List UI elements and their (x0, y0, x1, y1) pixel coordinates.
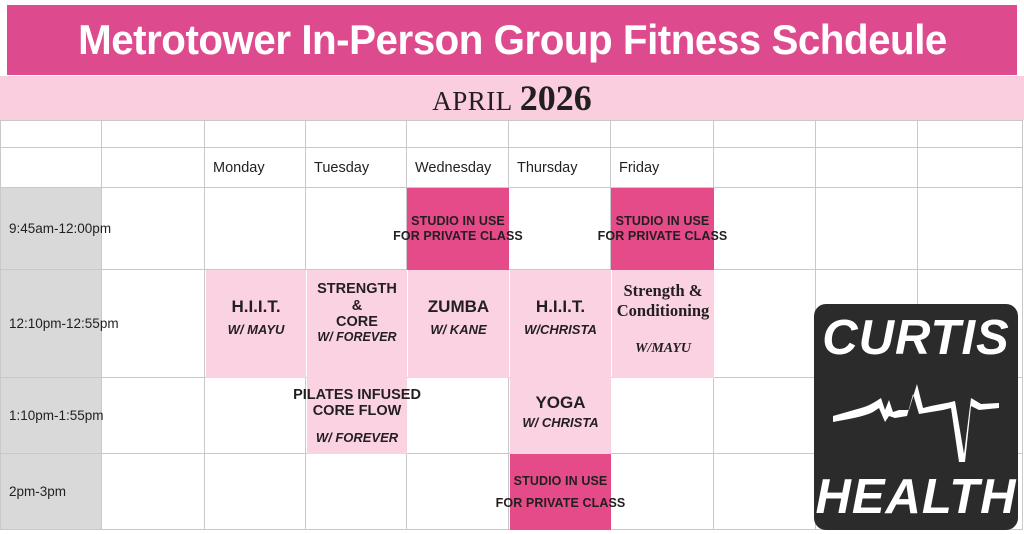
grid-cell-blank (918, 120, 1023, 148)
private-class-text: STUDIO IN USE FOR PRIVATE CLASS (393, 214, 523, 244)
time-slot-label: 12:10pm-12:55pm (1, 316, 119, 331)
time-slot-cell: 12:10pm-12:55pm (0, 270, 102, 378)
schedule-cell-friday (611, 454, 714, 530)
grid-cell-blank (918, 148, 1023, 188)
class-text: PILATES INFUSED CORE FLOW W/ FOREVER (293, 387, 421, 445)
time-slot-cell: 2pm-3pm (0, 454, 102, 530)
class-text: H.I.I.T. W/CHRISTA (524, 297, 597, 337)
time-slot-cell: 9:45am-12:00pm (0, 188, 102, 270)
grid-cell-blank (0, 148, 102, 188)
schedule-entry-private-friday-morning[interactable]: STUDIO IN USE FOR PRIVATE CLASS (611, 188, 714, 270)
month-year-heading: April2026 (432, 76, 592, 120)
grid-cell-blank (816, 188, 918, 270)
schedule-cell-friday (611, 378, 714, 454)
class-text: Strength & Conditioning W/MAYU (617, 281, 710, 357)
class-instructor: W/ CHRISTA (522, 415, 598, 430)
schedule-title-bar: Metrotower In-Person Group Fitness Schde… (7, 5, 1017, 75)
schedule-entry-private-thursday-afternoon[interactable]: STUDIO IN USE FOR PRIVATE CLASS (510, 454, 611, 530)
grid-cell-blank (611, 120, 714, 148)
time-slot-cell: 1:10pm-1:55pm (0, 378, 102, 454)
grid-cell-blank (816, 120, 918, 148)
private-line-1: STUDIO IN USE (393, 214, 523, 229)
schedule-cell-wednesday (407, 454, 509, 530)
grid-cell-blank (509, 120, 611, 148)
grid-cell-blank (714, 148, 816, 188)
private-line-2: FOR PRIVATE CLASS (496, 496, 626, 511)
private-line-2: FOR PRIVATE CLASS (393, 229, 523, 244)
day-header-label: Friday (611, 148, 713, 187)
class-name-line-1: Strength & (617, 281, 710, 301)
day-header-thursday: Thursday (509, 148, 611, 188)
class-name-line-1: PILATES INFUSED (293, 387, 421, 403)
grid-cell-blank (102, 378, 205, 454)
class-instructor: W/ FOREVER (293, 430, 421, 445)
grid-cell-blank (102, 454, 205, 530)
page-title: Metrotower In-Person Group Fitness Schde… (78, 16, 947, 64)
class-name-line-2: CORE FLOW (293, 403, 421, 419)
logo-word-health: HEALTH (815, 473, 1016, 522)
class-name-line-3: CORE (317, 314, 397, 330)
day-header-label: Thursday (509, 148, 610, 187)
schedule-month-band: April2026 (0, 76, 1024, 120)
schedule-entry-strength-core-tuesday[interactable]: STRENGTH & CORE W/ FOREVER (307, 270, 407, 378)
grid-cell-blank (714, 120, 816, 148)
day-header-label: Monday (205, 148, 305, 187)
grid-cell-blank (714, 270, 816, 378)
class-name: H.I.I.T. (524, 297, 597, 316)
time-slot-label: 9:45am-12:00pm (1, 221, 111, 236)
class-name: ZUMBA (428, 297, 489, 316)
private-class-text: STUDIO IN USE FOR PRIVATE CLASS (496, 474, 626, 511)
month-label: April (432, 77, 513, 119)
class-name: H.I.I.T. (228, 297, 285, 316)
schedule-cell-wednesday (407, 378, 509, 454)
schedule-entry-private-wednesday-morning[interactable]: STUDIO IN USE FOR PRIVATE CLASS (407, 188, 509, 270)
schedule-entry-zumba-wednesday[interactable]: ZUMBA W/ KANE (408, 270, 509, 378)
grid-cell-blank (918, 188, 1023, 270)
class-text: YOGA W/ CHRISTA (522, 393, 598, 430)
schedule-entry-strength-conditioning-friday[interactable]: Strength & Conditioning W/MAYU (612, 270, 714, 378)
grid-cell-blank (102, 120, 205, 148)
private-line-2: FOR PRIVATE CLASS (598, 229, 728, 244)
class-instructor: W/MAYU (617, 341, 710, 358)
grid-cell-blank (714, 188, 816, 270)
day-header-label: Tuesday (306, 148, 406, 187)
schedule-cell-monday (205, 454, 306, 530)
class-instructor: W/ FOREVER (317, 330, 397, 345)
class-name-line-2: Conditioning (617, 301, 710, 321)
grid-cell-blank (407, 120, 509, 148)
grid-cell-blank (306, 120, 407, 148)
schedule-cell-tuesday (306, 454, 407, 530)
schedule-entry-hiit-thursday[interactable]: H.I.I.T. W/CHRISTA (510, 270, 611, 378)
time-slot-label: 2pm-3pm (1, 484, 66, 499)
class-instructor: W/CHRISTA (524, 322, 597, 337)
schedule-cell-tuesday (306, 188, 407, 270)
grid-cell-blank (714, 454, 816, 530)
private-class-text: STUDIO IN USE FOR PRIVATE CLASS (598, 214, 728, 244)
private-line-1: STUDIO IN USE (496, 474, 626, 489)
class-name-line-2: & (317, 298, 397, 314)
schedule-entry-hiit-monday[interactable]: H.I.I.T. W/ MAYU (206, 270, 306, 378)
day-header-friday: Friday (611, 148, 714, 188)
schedule-entry-yoga-thursday[interactable]: YOGA W/ CHRISTA (510, 378, 611, 454)
grid-cell-blank (102, 188, 205, 270)
class-text: STRENGTH & CORE W/ FOREVER (317, 281, 397, 344)
day-header-wednesday: Wednesday (407, 148, 509, 188)
logo-word-curtis: CURTIS (822, 314, 1010, 363)
curtis-health-logo: CURTIS HEALTH (814, 304, 1018, 530)
grid-cell-blank (0, 120, 102, 148)
grid-cell-blank (102, 148, 205, 188)
schedule-cell-thursday (509, 188, 611, 270)
ecg-heartbeat-icon (831, 372, 1001, 464)
private-line-1: STUDIO IN USE (598, 214, 728, 229)
class-name: YOGA (522, 393, 598, 412)
class-text: H.I.I.T. W/ MAYU (228, 297, 285, 337)
day-header-tuesday: Tuesday (306, 148, 407, 188)
grid-cell-blank (714, 378, 816, 454)
schedule-cell-monday (205, 188, 306, 270)
day-header-monday: Monday (205, 148, 306, 188)
class-instructor: W/ MAYU (228, 322, 285, 337)
class-instructor: W/ KANE (428, 322, 489, 337)
year-label: 2026 (520, 78, 592, 118)
schedule-cell-monday (205, 378, 306, 454)
schedule-entry-pilates-tuesday[interactable]: PILATES INFUSED CORE FLOW W/ FOREVER (307, 378, 407, 454)
time-slot-label: 1:10pm-1:55pm (1, 408, 104, 423)
class-text: ZUMBA W/ KANE (428, 297, 489, 337)
grid-cell-blank (816, 148, 918, 188)
day-header-label: Wednesday (407, 148, 508, 187)
class-name-line-1: STRENGTH (317, 281, 397, 297)
grid-cell-blank (205, 120, 306, 148)
